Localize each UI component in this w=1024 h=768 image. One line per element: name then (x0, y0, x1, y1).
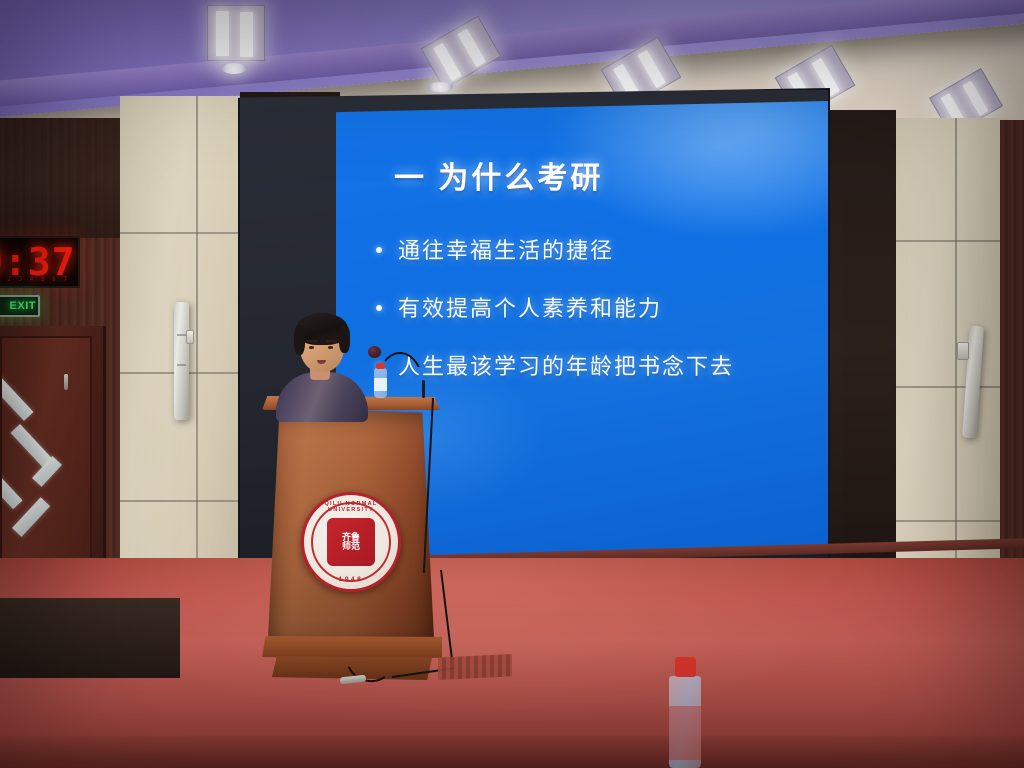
panel-joint (120, 500, 242, 502)
emblem-arc-text: QILU NORMAL UNIVERSITY (304, 501, 398, 513)
bullet-dot-icon (376, 305, 382, 311)
presenter-eye (328, 346, 333, 349)
speaker-seam (177, 334, 185, 336)
slide-bullet-item: 有效提高个人素养和能力 (376, 291, 734, 323)
panel-joint (893, 520, 1008, 522)
bottle-cap (376, 363, 385, 369)
light-tube (433, 43, 462, 81)
slide-bullet-text: 有效提高个人素养和能力 (398, 291, 662, 323)
light-tube (962, 81, 988, 116)
cable-protector-ramp (438, 654, 512, 680)
slide-bullet-text: 通往幸福生活的捷径 (398, 233, 614, 265)
emblem-year: 1948 (304, 576, 398, 583)
column-speaker-left (174, 302, 189, 420)
podium-base (262, 636, 442, 658)
speaker-seam (177, 364, 185, 366)
bottle-cap (675, 657, 696, 677)
slide-bullet-list: 通往幸福生活的捷径 有效提高个人素养和能力 人生最该学习的年龄把书念下去 (376, 233, 734, 407)
ceiling-light-fixture (207, 5, 265, 61)
speaker-bracket (186, 330, 194, 344)
bullet-dot-icon (376, 247, 382, 253)
door-glass-panel (0, 474, 23, 509)
light-tube (240, 12, 253, 57)
university-emblem: QILU NORMAL UNIVERSITY 齐鲁师范 1948 (301, 492, 401, 592)
light-tube (637, 50, 666, 88)
ceiling-downlight (221, 63, 247, 74)
slide-bullet-text: 人生最该学习的年龄把书念下去 (398, 349, 734, 381)
door-glass-panel (0, 374, 33, 421)
stage-front-edge (0, 736, 1024, 768)
bottle-label (669, 706, 701, 760)
ceiling-downlight (428, 82, 453, 92)
microphone-stem (422, 380, 425, 398)
light-tube (457, 29, 486, 67)
panel-joint (196, 96, 198, 596)
panel-joint (120, 232, 242, 234)
stage-left-skirt (0, 598, 180, 678)
slide-title: 一 为什么考研 (394, 153, 603, 197)
clock-sublabel: 1 2 3 4 5 6 7 (0, 276, 80, 283)
digital-clock: 0:37 1 2 3 4 5 6 7 (0, 236, 80, 288)
exit-sign-label: EXIT (10, 300, 36, 312)
presenter-eye (309, 346, 314, 349)
presenter-hair-side (339, 325, 350, 353)
panel-joint (893, 240, 1008, 242)
microphone-head (368, 346, 381, 358)
presenter-brow (307, 340, 318, 342)
speaker-bracket (957, 342, 969, 360)
panel-joint (893, 386, 1008, 388)
screen-surround-right (826, 110, 896, 580)
door-handle[interactable] (64, 374, 68, 390)
bottle-label (374, 378, 387, 391)
slide-bullet-item: 通往幸福生活的捷径 (376, 233, 734, 265)
light-tube (216, 11, 229, 56)
emblem-center-glyphs: 齐鲁师范 (327, 518, 376, 567)
exit-sign: EXIT (0, 295, 40, 317)
left-upper-dark-wall (0, 118, 122, 238)
presenter-brow (326, 340, 337, 342)
auditorium-photo: 一 为什么考研 通往幸福生活的捷径 有效提高个人素养和能力 人生最该学习的年龄把… (0, 0, 1024, 768)
presenter-hair-side (294, 325, 305, 355)
slide-bullet-item: 人生最该学习的年龄把书念下去 (376, 349, 734, 381)
